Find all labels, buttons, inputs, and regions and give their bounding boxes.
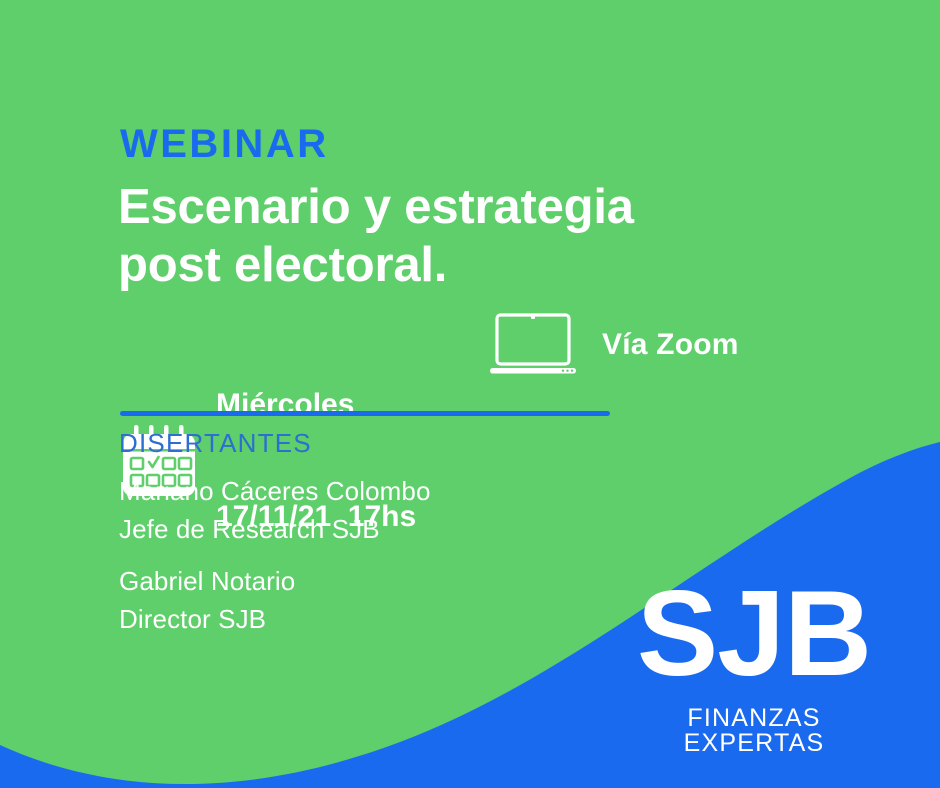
logo-wordmark: SJB — [620, 572, 888, 694]
event-platform-block: Vía Zoom — [488, 312, 739, 378]
sjb-logo: SJB FINANZAS EXPERTAS — [620, 572, 888, 756]
speaker-name: Gabriel Notario — [119, 562, 295, 600]
event-platform-label: Vía Zoom — [602, 330, 739, 360]
speaker-entry: Mariano Cáceres Colombo Jefe de Research… — [119, 472, 431, 549]
speaker-role: Director SJB — [119, 600, 295, 638]
speaker-name: Mariano Cáceres Colombo — [119, 472, 431, 510]
section-divider — [120, 411, 610, 416]
speakers-heading: DISERTANTES — [119, 430, 312, 456]
page-title-line-1: Escenario y estrategia — [118, 178, 838, 236]
event-weekday: Miércoles — [216, 386, 416, 423]
speaker-entry: Gabriel Notario Director SJB — [119, 562, 295, 639]
page-title-line-2: post electoral. — [118, 236, 838, 294]
laptop-icon — [488, 312, 584, 378]
page-kicker: WEBINAR — [120, 124, 329, 164]
event-info-row: Miércoles 17/11/21 17hs Vía Z — [120, 312, 880, 394]
speaker-role: Jefe de Research SJB — [119, 510, 431, 548]
logo-tagline: FINANZAS EXPERTAS — [620, 706, 888, 756]
page-title: Escenario y estrategia post electoral. — [118, 178, 838, 295]
webinar-poster: WEBINAR Escenario y estrategia post elec… — [0, 0, 940, 788]
